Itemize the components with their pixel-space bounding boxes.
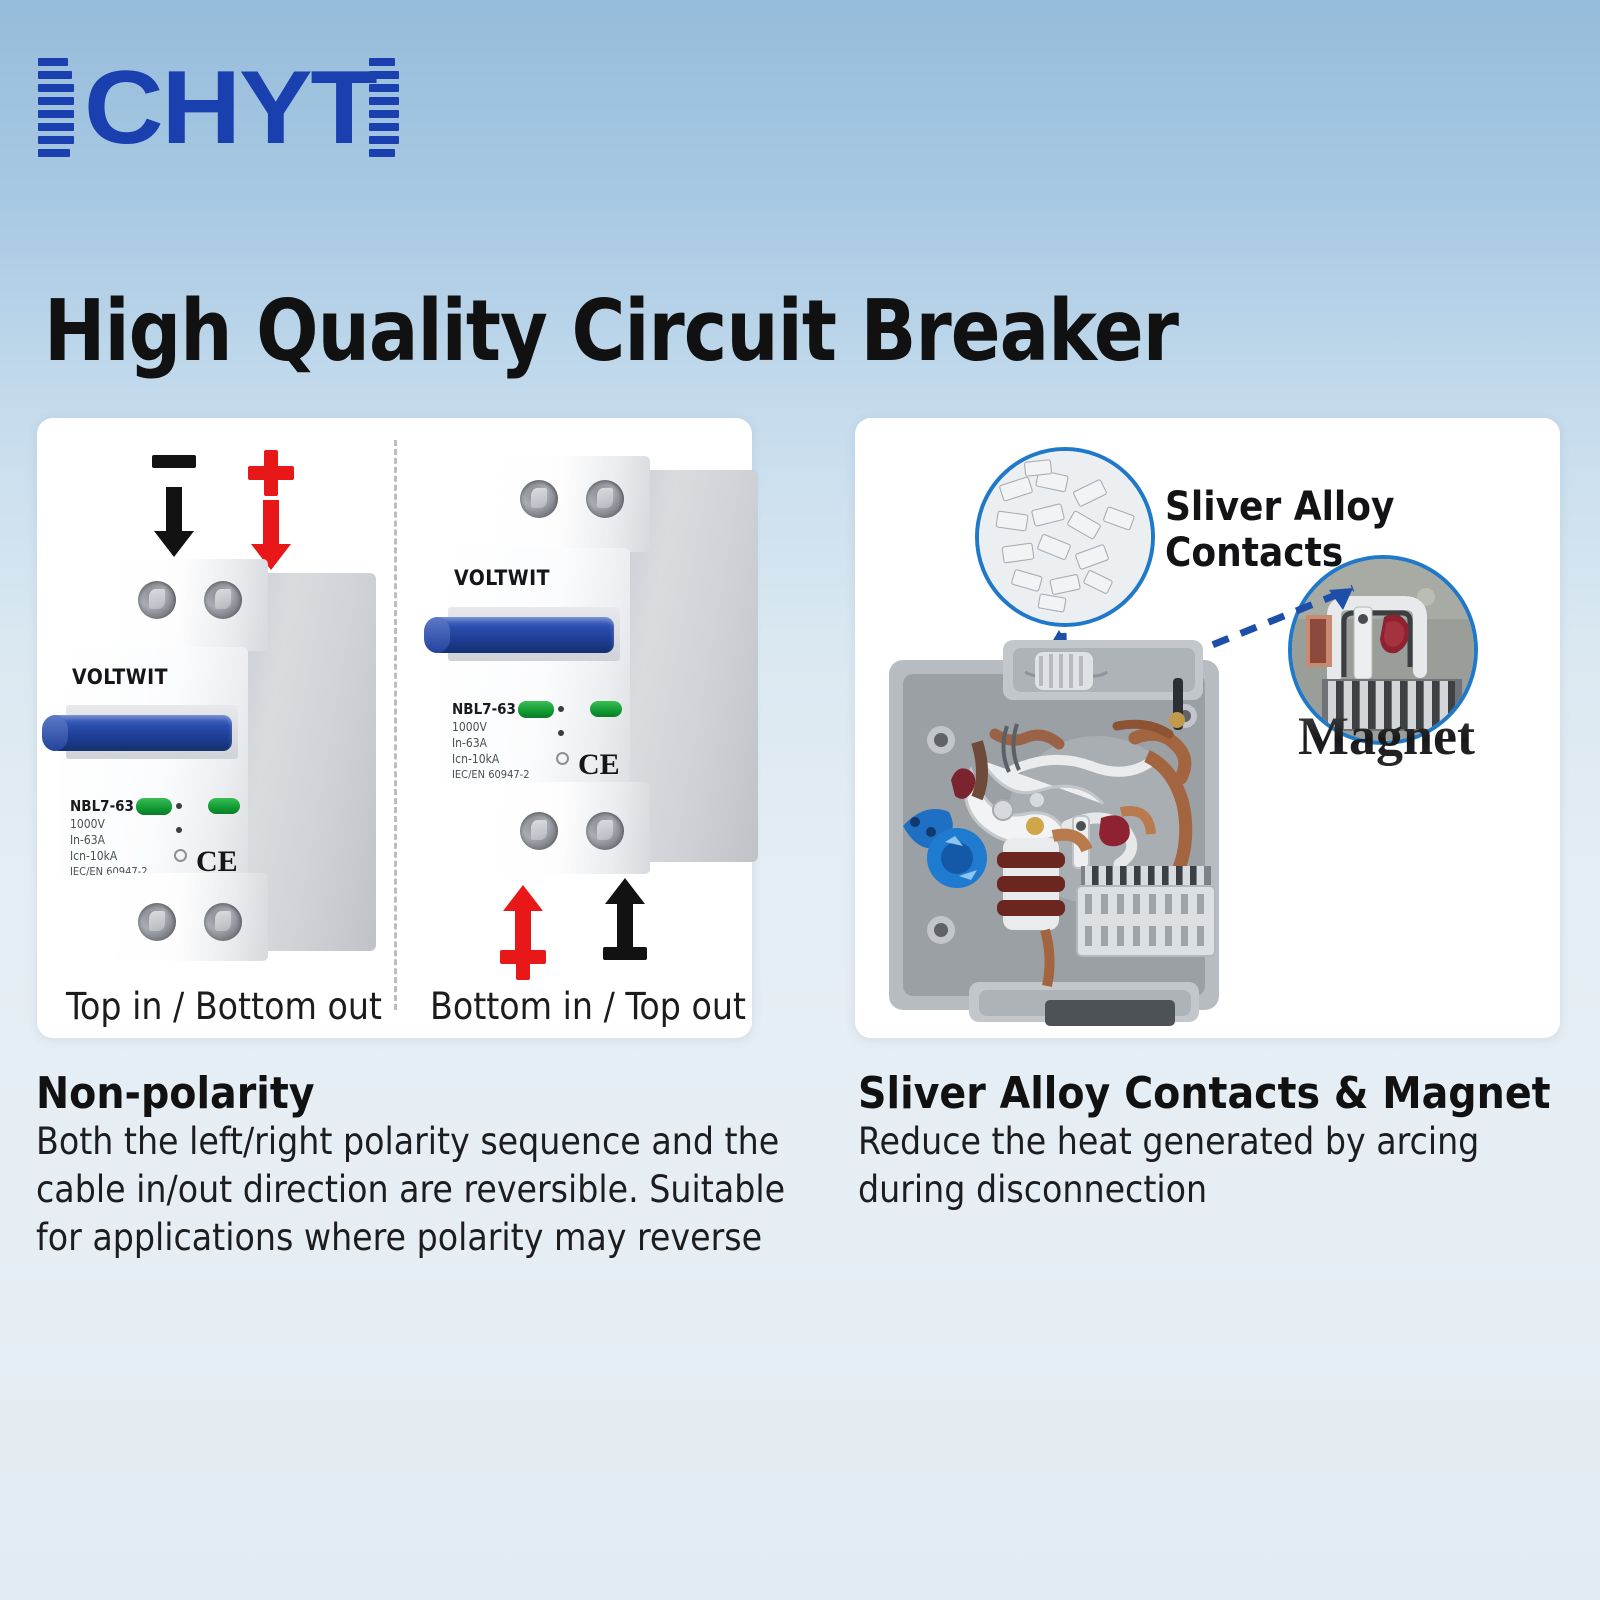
down-arrow-black-left xyxy=(154,487,194,557)
logo-wordmark: CHYT xyxy=(84,56,376,160)
page-title: High Quality Circuit Breaker xyxy=(44,282,1178,381)
breaker-model-right: NBL7-63 xyxy=(452,700,516,718)
infographic-canvas: CHYT High Quality Circuit Breaker VOLTWI… xyxy=(0,0,1600,1600)
breaker-spec-breaking-left: Icn-10kA xyxy=(70,849,117,863)
brand-logo: CHYT xyxy=(38,55,399,160)
feature-body-contacts-magnet: Reduce the heat generated by arcing duri… xyxy=(858,1118,1538,1214)
up-arrow-black-right xyxy=(605,878,645,948)
breaker-unit-left: VOLTWIT NBL7-63 1000V In-63A Icn-10kA IE… xyxy=(48,555,378,965)
breaker-spec-current-right: In-63A xyxy=(452,736,487,750)
minus-sign-top-left xyxy=(152,455,196,468)
plus-sign-top-right xyxy=(248,450,294,496)
silver-chips-illustration xyxy=(979,451,1151,623)
plus-sign-bottom-left xyxy=(500,934,546,980)
breaker-brand-label-right: VOLTWIT xyxy=(454,566,550,590)
silver-alloy-contacts-photo xyxy=(975,447,1155,627)
feature-heading-contacts-magnet: Sliver Alloy Contacts & Magnet xyxy=(858,1068,1551,1119)
breaker-model-left: NBL7-63 xyxy=(70,797,134,815)
minus-sign-bottom-right xyxy=(603,947,647,960)
breaker-spec-voltage-right: 1000V xyxy=(452,720,487,734)
callout-contacts-line1: Sliver Alloy xyxy=(1165,485,1394,531)
breaker-spec-standard-right: IEC/EN 60947-2 xyxy=(452,768,530,781)
caption-top-in-bottom-out: Top in / Bottom out xyxy=(66,985,382,1028)
logo-left-bars-icon xyxy=(38,58,74,158)
breaker-spec-breaking-right: Icn-10kA xyxy=(452,752,499,766)
card-divider xyxy=(394,440,397,1010)
callout-magnet-label: Magnet xyxy=(1298,705,1475,767)
feature-heading-non-polarity: Non-polarity xyxy=(36,1068,315,1119)
breaker-spec-voltage-left: 1000V xyxy=(70,817,105,831)
feature-body-non-polarity: Both the left/right polarity sequence an… xyxy=(36,1118,796,1262)
breaker-brand-label-left: VOLTWIT xyxy=(72,665,168,689)
breaker-unit-right: VOLTWIT NBL7-63 1000V In-63A Icn-10kA IE… xyxy=(430,452,760,882)
breaker-ce-mark-right: CE xyxy=(578,748,620,782)
breaker-cutaway-photo xyxy=(885,630,1275,1030)
breaker-spec-current-left: In-63A xyxy=(70,833,105,847)
caption-bottom-in-top-out: Bottom in / Top out xyxy=(430,985,746,1028)
